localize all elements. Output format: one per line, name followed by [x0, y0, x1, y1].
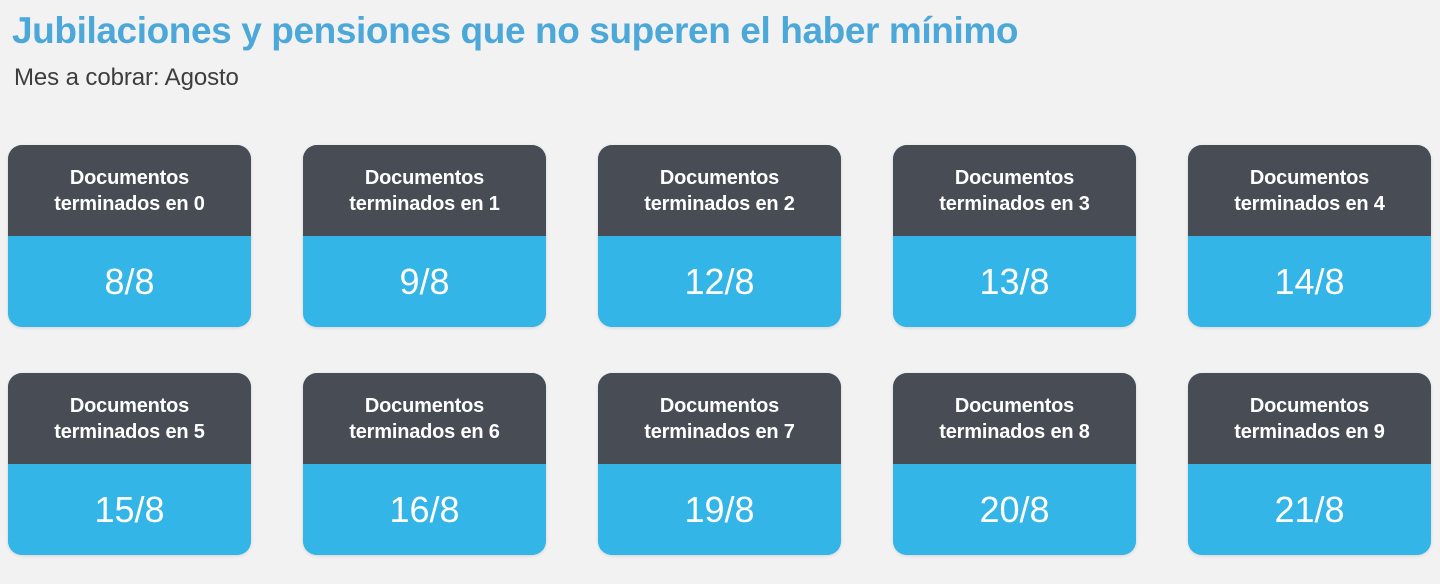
document-card-3: Documentos terminados en 3 13/8 — [893, 145, 1136, 327]
document-card-5: Documentos terminados en 5 15/8 — [8, 373, 251, 555]
card-label-9: Documentos terminados en 9 — [1234, 393, 1384, 445]
page-header: Jubilaciones y pensiones que no superen … — [0, 0, 1440, 92]
card-date-5: 15/8 — [94, 490, 164, 530]
document-card-9: Documentos terminados en 9 21/8 — [1188, 373, 1431, 555]
card-header-6: Documentos terminados en 6 — [303, 373, 546, 464]
card-date-8: 20/8 — [979, 490, 1049, 530]
card-label-1: Documentos terminados en 1 — [349, 165, 499, 217]
document-card-0: Documentos terminados en 0 8/8 — [8, 145, 251, 327]
card-body-8: 20/8 — [893, 464, 1136, 555]
card-body-3: 13/8 — [893, 236, 1136, 327]
card-label-5: Documentos terminados en 5 — [54, 393, 204, 445]
payment-schedule-page: Jubilaciones y pensiones que no superen … — [0, 0, 1440, 584]
card-label-7: Documentos terminados en 7 — [644, 393, 794, 445]
document-cards-grid: Documentos terminados en 0 8/8 Documento… — [8, 145, 1432, 555]
card-date-9: 21/8 — [1274, 490, 1344, 530]
card-date-6: 16/8 — [389, 490, 459, 530]
card-body-0: 8/8 — [8, 236, 251, 327]
card-body-9: 21/8 — [1188, 464, 1431, 555]
page-subtitle-month: Mes a cobrar: Agosto — [14, 64, 1440, 92]
card-label-6: Documentos terminados en 6 — [349, 393, 499, 445]
card-label-8: Documentos terminados en 8 — [939, 393, 1089, 445]
document-card-6: Documentos terminados en 6 16/8 — [303, 373, 546, 555]
card-date-1: 9/8 — [399, 262, 449, 302]
card-date-3: 13/8 — [979, 262, 1049, 302]
card-header-3: Documentos terminados en 3 — [893, 145, 1136, 236]
page-title: Jubilaciones y pensiones que no superen … — [12, 8, 1440, 54]
card-date-7: 19/8 — [684, 490, 754, 530]
card-header-2: Documentos terminados en 2 — [598, 145, 841, 236]
card-header-8: Documentos terminados en 8 — [893, 373, 1136, 464]
card-body-7: 19/8 — [598, 464, 841, 555]
document-card-8: Documentos terminados en 8 20/8 — [893, 373, 1136, 555]
card-label-2: Documentos terminados en 2 — [644, 165, 794, 217]
card-date-2: 12/8 — [684, 262, 754, 302]
card-date-0: 8/8 — [104, 262, 154, 302]
document-card-2: Documentos terminados en 2 12/8 — [598, 145, 841, 327]
card-header-4: Documentos terminados en 4 — [1188, 145, 1431, 236]
card-label-3: Documentos terminados en 3 — [939, 165, 1089, 217]
card-body-2: 12/8 — [598, 236, 841, 327]
card-header-1: Documentos terminados en 1 — [303, 145, 546, 236]
card-body-4: 14/8 — [1188, 236, 1431, 327]
card-header-7: Documentos terminados en 7 — [598, 373, 841, 464]
card-header-5: Documentos terminados en 5 — [8, 373, 251, 464]
card-header-0: Documentos terminados en 0 — [8, 145, 251, 236]
card-label-0: Documentos terminados en 0 — [54, 165, 204, 217]
card-body-1: 9/8 — [303, 236, 546, 327]
document-card-4: Documentos terminados en 4 14/8 — [1188, 145, 1431, 327]
card-body-6: 16/8 — [303, 464, 546, 555]
card-date-4: 14/8 — [1274, 262, 1344, 302]
card-header-9: Documentos terminados en 9 — [1188, 373, 1431, 464]
card-label-4: Documentos terminados en 4 — [1234, 165, 1384, 217]
card-body-5: 15/8 — [8, 464, 251, 555]
document-card-7: Documentos terminados en 7 19/8 — [598, 373, 841, 555]
document-card-1: Documentos terminados en 1 9/8 — [303, 145, 546, 327]
